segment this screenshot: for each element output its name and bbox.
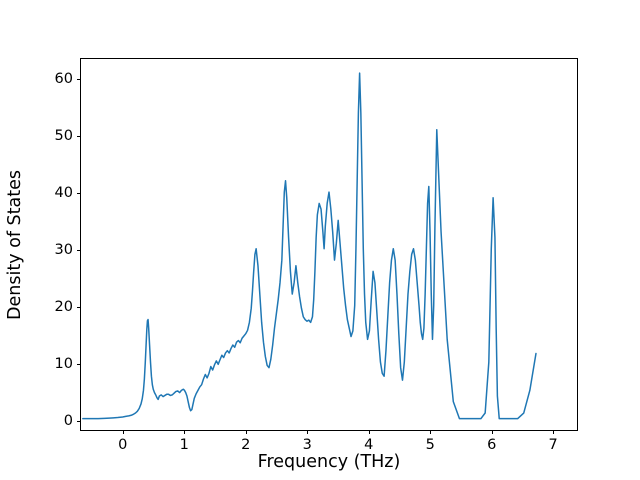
x-tick-label: 2 xyxy=(241,437,250,453)
x-tick-label: 7 xyxy=(549,437,558,453)
dos-line-plot xyxy=(81,59,577,430)
x-tick-mark xyxy=(430,430,431,434)
y-tick-mark xyxy=(77,364,81,365)
x-tick-label: 4 xyxy=(364,437,373,453)
y-tick-label: 30 xyxy=(55,242,73,258)
y-tick-label: 40 xyxy=(55,185,73,201)
x-tick-label: 6 xyxy=(487,437,496,453)
x-tick-mark xyxy=(553,430,554,434)
plot-axes-area: 0102030405060 01234567 xyxy=(80,58,578,431)
x-axis-label: Frequency (THz) xyxy=(80,452,578,472)
y-tick-mark xyxy=(77,193,81,194)
y-axis-label: Density of States xyxy=(0,58,30,431)
figure-canvas: 0102030405060 01234567 Density of States… xyxy=(0,0,640,480)
y-tick-mark xyxy=(77,307,81,308)
x-tick-mark xyxy=(492,430,493,434)
y-axis-label-text: Density of States xyxy=(5,170,25,320)
x-tick-mark xyxy=(123,430,124,434)
x-tick-label: 5 xyxy=(426,437,435,453)
x-tick-label: 3 xyxy=(303,437,312,453)
x-axis-label-text: Frequency (THz) xyxy=(258,452,401,472)
x-tick-mark xyxy=(369,430,370,434)
dos-curve xyxy=(83,73,536,419)
y-tick-mark xyxy=(77,136,81,137)
x-tick-mark xyxy=(246,430,247,434)
y-tick-mark xyxy=(77,250,81,251)
y-tick-mark xyxy=(77,421,81,422)
y-tick-mark xyxy=(77,79,81,80)
x-tick-label: 1 xyxy=(180,437,189,453)
y-tick-label: 20 xyxy=(55,299,73,315)
y-tick-label: 10 xyxy=(55,356,73,372)
y-tick-label: 50 xyxy=(55,128,73,144)
y-tick-label: 0 xyxy=(64,413,73,429)
x-tick-mark xyxy=(184,430,185,434)
x-tick-mark xyxy=(307,430,308,434)
x-tick-label: 0 xyxy=(118,437,127,453)
y-tick-label: 60 xyxy=(55,71,73,87)
